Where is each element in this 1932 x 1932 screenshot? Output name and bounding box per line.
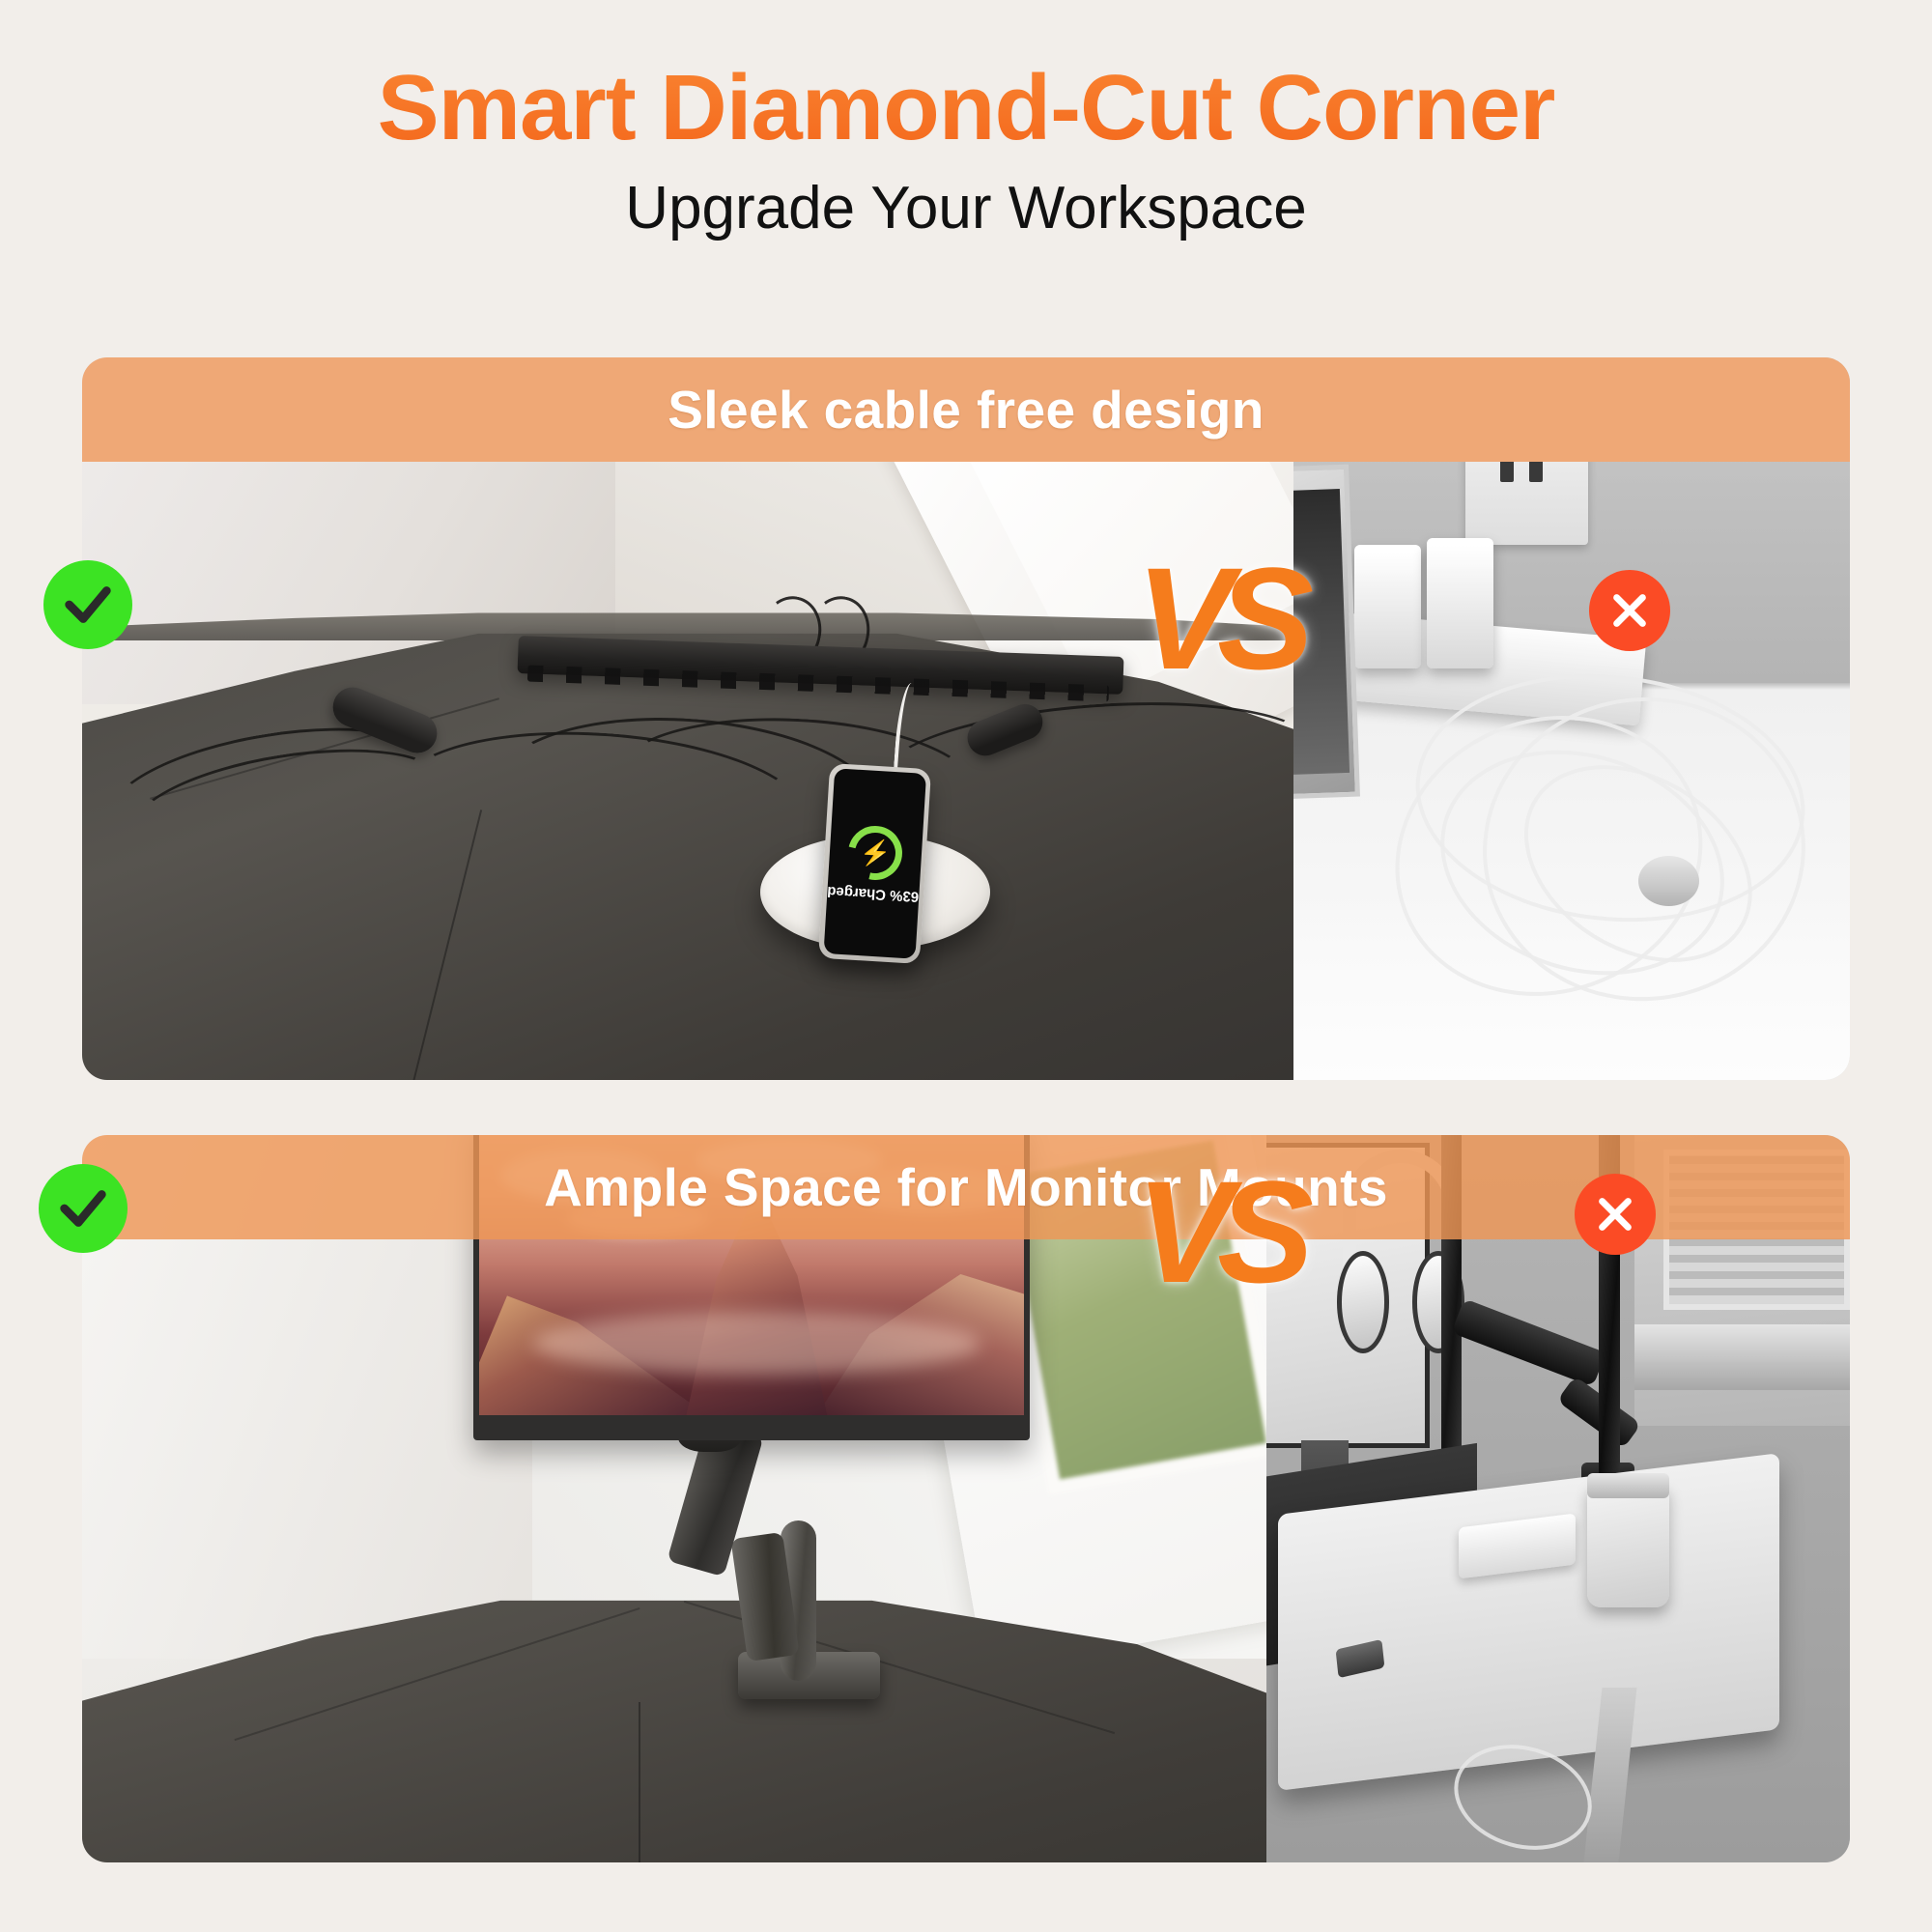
cloud — [566, 1202, 708, 1236]
cloud — [500, 1150, 664, 1202]
charge-status-label: 63% Charged — [827, 882, 920, 904]
panel-two-body — [82, 1135, 1850, 1862]
picture-frame-photo — [1293, 489, 1350, 775]
window-glass — [1663, 1150, 1850, 1310]
wall-outlet — [1465, 401, 1588, 546]
jar-lid — [1587, 1473, 1669, 1498]
monitor-mount-scene — [82, 1135, 1266, 1862]
phone-screen: 63% Charged ⚡ — [824, 768, 927, 958]
panel-two-bad-image — [1266, 1135, 1850, 1862]
jar — [1587, 1484, 1669, 1607]
monitor-arm-post — [1441, 1135, 1462, 1469]
x-glyph — [1607, 588, 1652, 633]
smartphone: 63% Charged ⚡ — [818, 763, 931, 964]
check-glyph — [60, 577, 116, 633]
check-glyph — [55, 1180, 111, 1236]
picture-frame — [1293, 465, 1360, 800]
comparison-panel-monitor-mounts: Ample Space for Monitor Mounts — [82, 1135, 1850, 1862]
check-icon — [43, 560, 132, 649]
charger-brick — [1354, 545, 1421, 668]
page-title: Smart Diamond-Cut Corner — [0, 56, 1932, 160]
cramped-desk-scene — [1266, 1135, 1850, 1862]
headphone-earcup — [1337, 1251, 1389, 1352]
cloud — [849, 1167, 1012, 1213]
clean-desk-scene: 63% Charged ⚡ — [82, 357, 1293, 1080]
panel-one-body: 63% Charged ⚡ — [82, 357, 1850, 1080]
panel-one-good-image: 63% Charged ⚡ — [82, 357, 1293, 1080]
x-icon — [1589, 570, 1670, 651]
window-sill — [1634, 1324, 1850, 1390]
x-glyph — [1593, 1192, 1637, 1236]
cloud — [696, 1138, 882, 1184]
x-icon — [1575, 1174, 1656, 1255]
charger-brick — [1427, 538, 1493, 668]
charging-bolt-icon: ⚡ — [838, 815, 913, 890]
monitor — [473, 1135, 1030, 1440]
monitor-wallpaper — [479, 1135, 1024, 1415]
monitor-arm-segment — [1452, 1298, 1606, 1386]
page-subtitle: Upgrade Your Workspace — [0, 176, 1932, 241]
messy-cable-scene — [1293, 357, 1850, 1080]
product-infographic: Smart Diamond-Cut Corner Upgrade Your Wo… — [0, 0, 1932, 1932]
wall-left — [82, 1135, 532, 1659]
panel-two-good-image — [82, 1135, 1266, 1862]
check-icon — [39, 1164, 128, 1253]
bolt-glyph: ⚡ — [860, 838, 893, 866]
desk-seam — [639, 1702, 640, 1862]
comparison-panel-cable-design: 63% Charged ⚡ — [82, 357, 1850, 1080]
mist — [533, 1312, 980, 1376]
panel-one-bad-image — [1293, 357, 1850, 1080]
